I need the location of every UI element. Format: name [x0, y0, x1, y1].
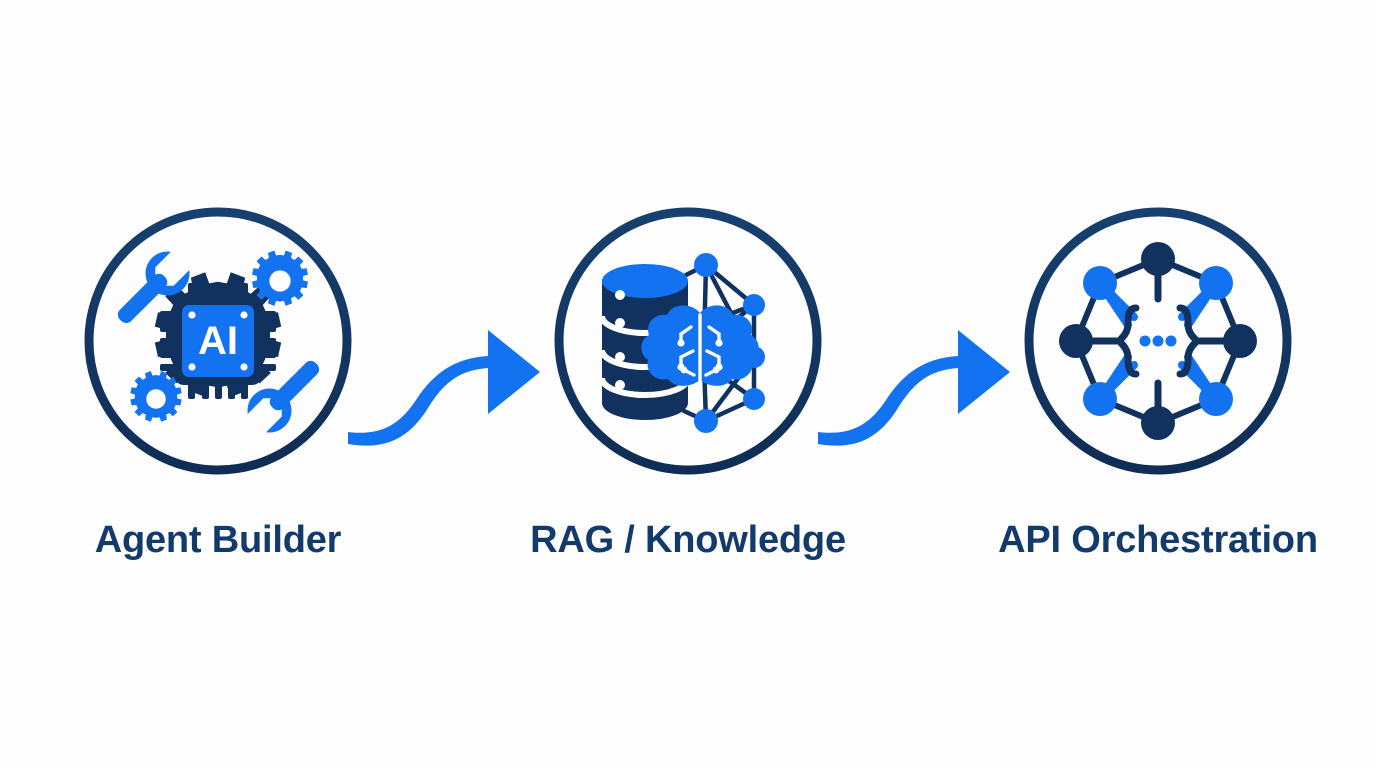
- connector-agent-to-rag: [348, 330, 540, 446]
- step-label-rag-knowledge: RAG / Knowledge: [530, 519, 846, 561]
- step-label-agent-builder: Agent Builder: [95, 519, 342, 561]
- connector-rag-to-api: [818, 330, 1010, 446]
- step-api-orchestration[interactable]: API Orchestration: [998, 212, 1318, 561]
- pipeline-diagram: AI: [0, 0, 1376, 768]
- step-agent-builder[interactable]: Agent Builder: [89, 212, 347, 561]
- api-mesh-braces-icon: [1059, 242, 1257, 440]
- step-label-api-orchestration: API Orchestration: [998, 519, 1318, 561]
- step-rag-knowledge[interactable]: RAG / Knowledge: [530, 212, 846, 561]
- diagram-canvas: AI: [0, 0, 1376, 768]
